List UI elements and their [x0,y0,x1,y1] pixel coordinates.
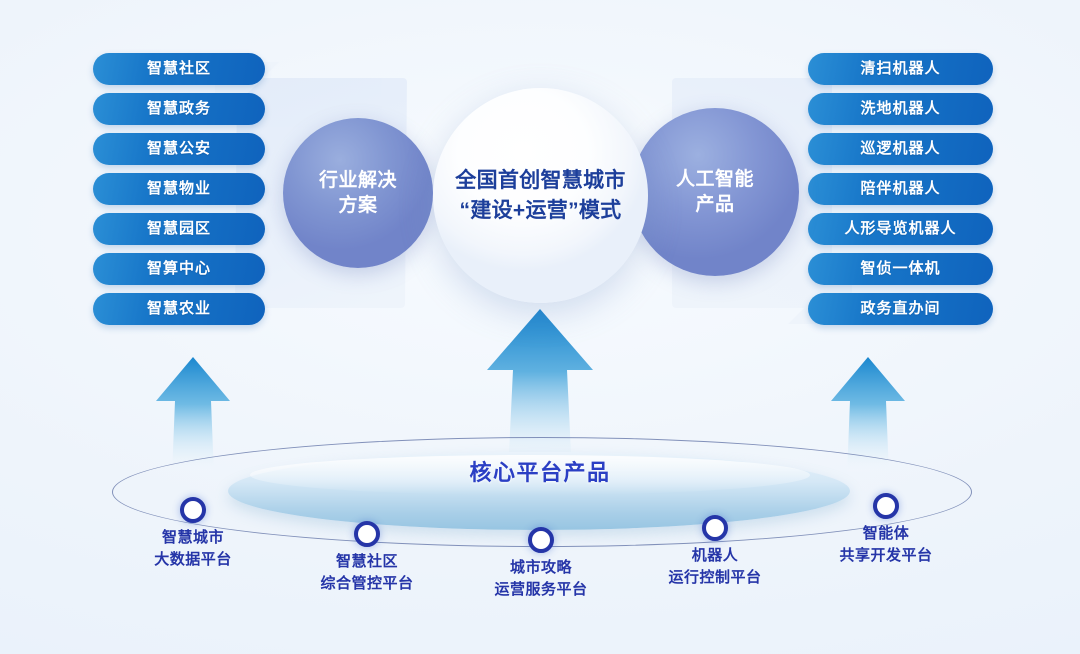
node-label-line1: 机器人 [668,545,761,567]
product-pill-humanoid-guide-robot[interactable]: 人形导览机器人 [808,213,993,245]
node-label: 机器人 运行控制平台 [668,545,761,589]
circle-left-line2: 方案 [319,193,397,218]
node-label: 城市攻略 运营服务平台 [494,557,587,601]
node-label-line2: 大数据平台 [154,549,232,571]
node-label-line1: 智慧城市 [154,527,232,549]
product-pill-cleaning-robot[interactable]: 清扫机器人 [808,53,993,85]
node-label: 智能体 共享开发平台 [839,523,932,567]
circle-center-line2: “建设+运营”模式 [455,196,625,226]
node-label-line1: 城市攻略 [494,557,587,579]
node-label-line2: 共享开发平台 [839,545,932,567]
circle-core-model[interactable]: 全国首创智慧城市 “建设+运营”模式 [433,88,648,303]
node-label-line2: 运营服务平台 [494,579,587,601]
circle-ai-products[interactable]: 人工智能 产品 [631,108,799,276]
circle-center-line1: 全国首创智慧城市 [455,166,625,196]
solution-pill-smart-property[interactable]: 智慧物业 [93,173,265,205]
product-pill-smart-detection-machine[interactable]: 智侦一体机 [808,253,993,285]
node-label: 智慧城市 大数据平台 [154,527,232,571]
solution-pill-smart-police[interactable]: 智慧公安 [93,133,265,165]
node-dot-icon [702,515,728,541]
node-label-line1: 智能体 [839,523,932,545]
platform-title: 核心平台产品 [0,455,1080,487]
circle-right-line1: 人工智能 [676,167,754,192]
node-dot-icon [354,521,380,547]
node-dot-icon [180,497,206,523]
product-pill-government-service-room[interactable]: 政务直办间 [808,293,993,325]
node-label-line2: 综合管控平台 [320,573,413,595]
diagram-canvas: 核心平台产品 智慧城市 大数据平台 智慧社区 综合管控平台 城市攻略 运营服务平… [0,0,1080,654]
product-pill-scrubber-robot[interactable]: 洗地机器人 [808,93,993,125]
solution-pill-smart-park[interactable]: 智慧园区 [93,213,265,245]
solution-pill-smart-agriculture[interactable]: 智慧农业 [93,293,265,325]
circle-right-line2: 产品 [676,192,754,217]
node-label-line2: 运行控制平台 [668,567,761,589]
node-label: 智慧社区 综合管控平台 [320,551,413,595]
node-dot-icon [528,527,554,553]
node-dot-icon [873,493,899,519]
product-pill-patrol-robot[interactable]: 巡逻机器人 [808,133,993,165]
circle-left-line1: 行业解决 [319,168,397,193]
solution-pill-smart-government[interactable]: 智慧政务 [93,93,265,125]
circle-industry-solutions[interactable]: 行业解决 方案 [283,118,433,268]
node-label-line1: 智慧社区 [320,551,413,573]
product-pill-companion-robot[interactable]: 陪伴机器人 [808,173,993,205]
solution-pill-smart-community[interactable]: 智慧社区 [93,53,265,85]
solution-pill-compute-center[interactable]: 智算中心 [93,253,265,285]
